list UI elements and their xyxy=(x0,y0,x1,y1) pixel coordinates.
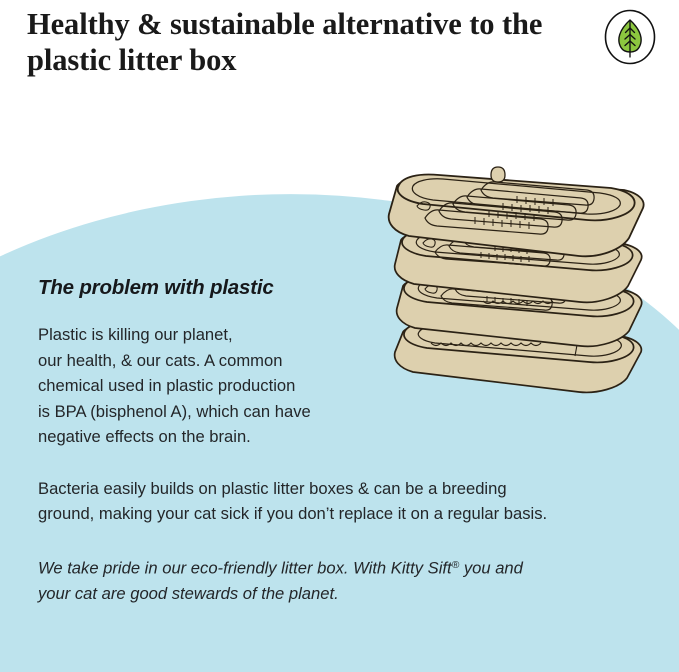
section-subheading: The problem with plastic xyxy=(38,276,558,300)
infographic-page: Healthy & sustainable alternative to the… xyxy=(0,0,679,672)
header: Healthy & sustainable alternative to the… xyxy=(0,0,679,90)
paragraph-closing: We take pride in our eco-friendly litter… xyxy=(38,553,558,607)
paragraph-plastic-harm: Plastic is killing our planet, our healt… xyxy=(38,322,558,450)
page-title: Healthy & sustainable alternative to the… xyxy=(27,6,587,78)
content-column: The problem with plastic Plastic is kill… xyxy=(38,276,558,606)
closing-text-prefix: We take pride in our eco-friendly litter… xyxy=(38,558,452,577)
paragraph-bacteria: Bacteria easily builds on plastic litter… xyxy=(38,476,558,527)
leaf-in-circle-icon xyxy=(603,8,657,66)
